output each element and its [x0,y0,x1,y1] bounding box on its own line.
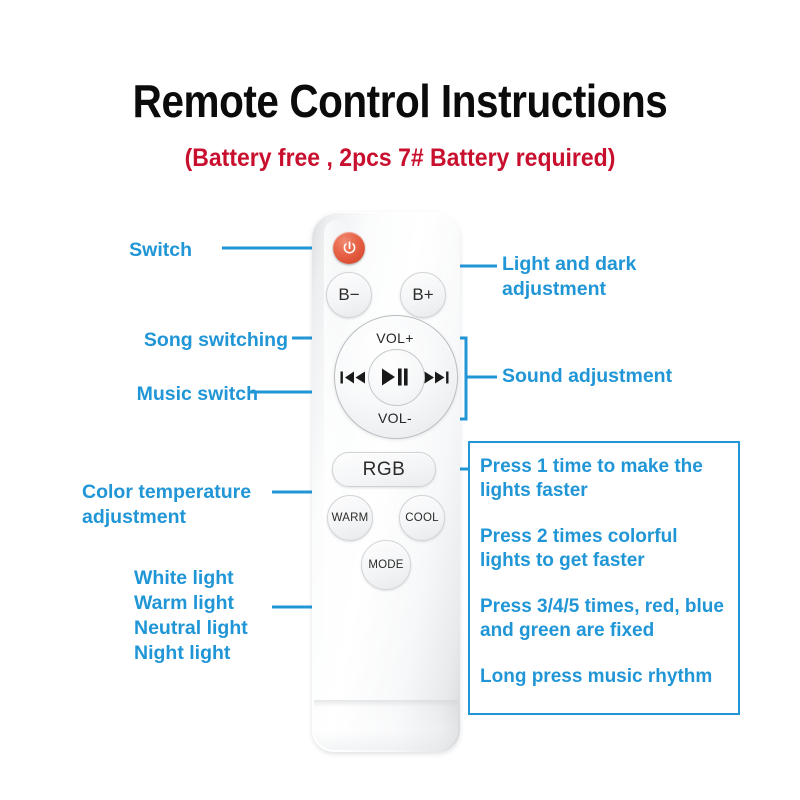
callout-light-and-dark: Light and dark adjustment [502,252,636,302]
mode-button[interactable]: MODE [361,540,411,590]
brightness-up-button[interactable]: B+ [400,272,446,318]
callout-song-switching: Song switching [144,328,288,353]
power-icon [341,240,358,257]
cool-label: COOL [405,512,438,524]
instructions-panel: Press 1 time to make the lights faster P… [468,441,740,715]
instruction-line: Long press music rhythm [480,665,730,689]
brightness-down-button[interactable]: B− [326,272,372,318]
power-button[interactable] [333,232,365,264]
instruction-line: Press 1 time to make the lights faster [480,455,730,503]
callout-switch: Switch [129,238,192,263]
page-subtitle: (Battery free , 2pcs 7# Battery required… [32,144,768,173]
brightness-down-label: B− [338,285,359,305]
callout-sound-adjustment: Sound adjustment [502,364,672,389]
previous-track-icon [340,370,366,385]
page-title: Remote Control Instructions [48,74,752,128]
callout-light-modes: White light Warm light Neutral light Nig… [134,566,248,666]
play-pause-button[interactable] [378,364,412,390]
callout-color-temperature: Color temperature adjustment [82,480,251,530]
instruction-line: Press 3/4/5 times, red, blue and green a… [480,595,730,643]
callout-music-switch: Music switch [137,382,258,407]
battery-cover-seam [314,700,458,750]
instruction-line: Press 2 times colorful lights to get fas… [480,525,730,573]
volume-down-button[interactable]: VOL- [334,410,456,426]
rgb-label: RGB [363,459,406,481]
play-pause-icon [380,367,410,387]
mode-label: MODE [368,559,403,571]
rgb-button[interactable]: RGB [332,452,436,487]
volume-up-button[interactable]: VOL+ [334,330,456,346]
next-track-button[interactable] [422,366,452,388]
cool-button[interactable]: COOL [399,495,445,541]
warm-label: WARM [332,512,369,524]
brightness-up-label: B+ [412,285,433,305]
poster-canvas: Remote Control Instructions (Battery fre… [0,0,800,800]
next-track-icon [424,370,450,385]
previous-track-button[interactable] [338,366,368,388]
warm-button[interactable]: WARM [327,495,373,541]
